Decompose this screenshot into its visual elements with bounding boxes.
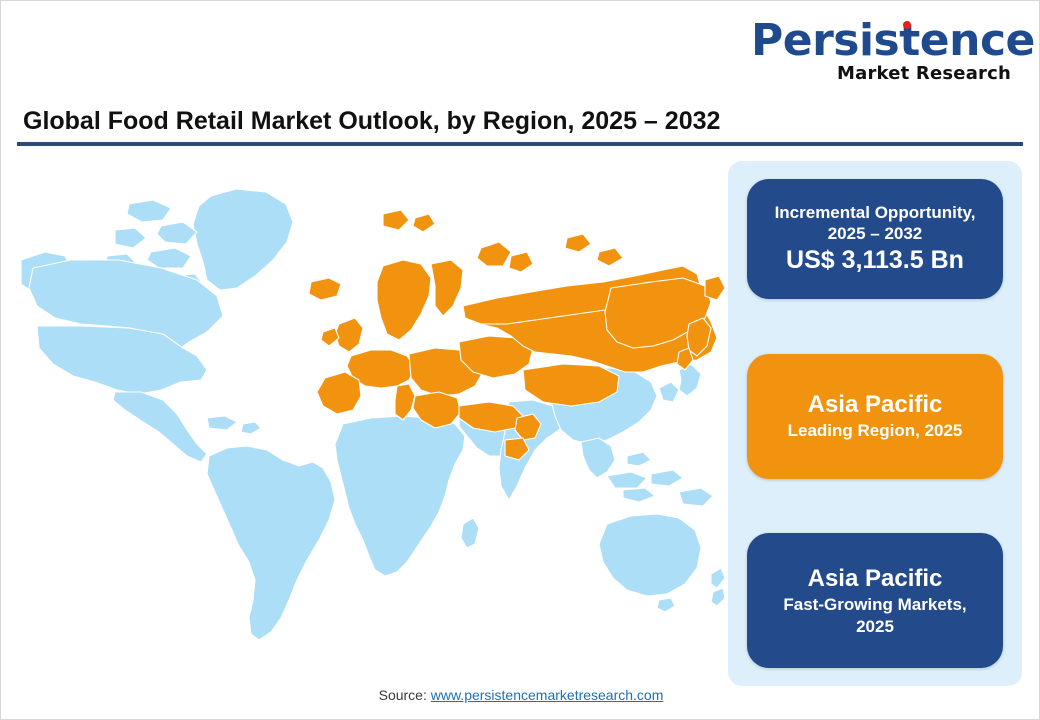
logo-wordmark-text: Persistence (751, 15, 1035, 66)
source-label: Source: (379, 687, 427, 703)
stat-card-leading-region: Asia Pacific Leading Region, 2025 (747, 354, 1003, 479)
company-logo: Persistence Market Research (751, 19, 1011, 83)
page-title: Global Food Retail Market Outlook, by Re… (23, 107, 720, 136)
incremental-opportunity-value: US$ 3,113.5 Bn (786, 245, 964, 276)
logo-tagline: Market Research (751, 65, 1011, 83)
fast-growing-label-line1: Fast-Growing Markets, (783, 594, 966, 616)
stat-card-fast-growing-markets: Asia Pacific Fast-Growing Markets, 2025 (747, 533, 1003, 668)
leading-region-name: Asia Pacific (808, 390, 943, 420)
world-map-svg (11, 156, 726, 666)
incremental-opportunity-label-line2: 2025 – 2032 (828, 223, 923, 245)
logo-red-dot-icon (903, 21, 911, 29)
world-map (11, 156, 726, 666)
stat-card-incremental-opportunity: Incremental Opportunity, 2025 – 2032 US$… (747, 179, 1003, 299)
source-link[interactable]: www.persistencemarketresearch.com (431, 687, 664, 703)
infographic-root: Persistence Market Research Global Food … (0, 0, 1040, 720)
stats-panel: Incremental Opportunity, 2025 – 2032 US$… (728, 161, 1022, 686)
incremental-opportunity-label-line1: Incremental Opportunity, (775, 202, 976, 224)
title-divider (17, 142, 1023, 146)
source-line: Source: www.persistencemarketresearch.co… (1, 687, 1040, 703)
logo-wordmark: Persistence (751, 19, 1011, 63)
fast-growing-label-line2: 2025 (856, 616, 894, 638)
fast-growing-region-name: Asia Pacific (808, 564, 943, 594)
leading-region-label: Leading Region, 2025 (788, 420, 963, 442)
